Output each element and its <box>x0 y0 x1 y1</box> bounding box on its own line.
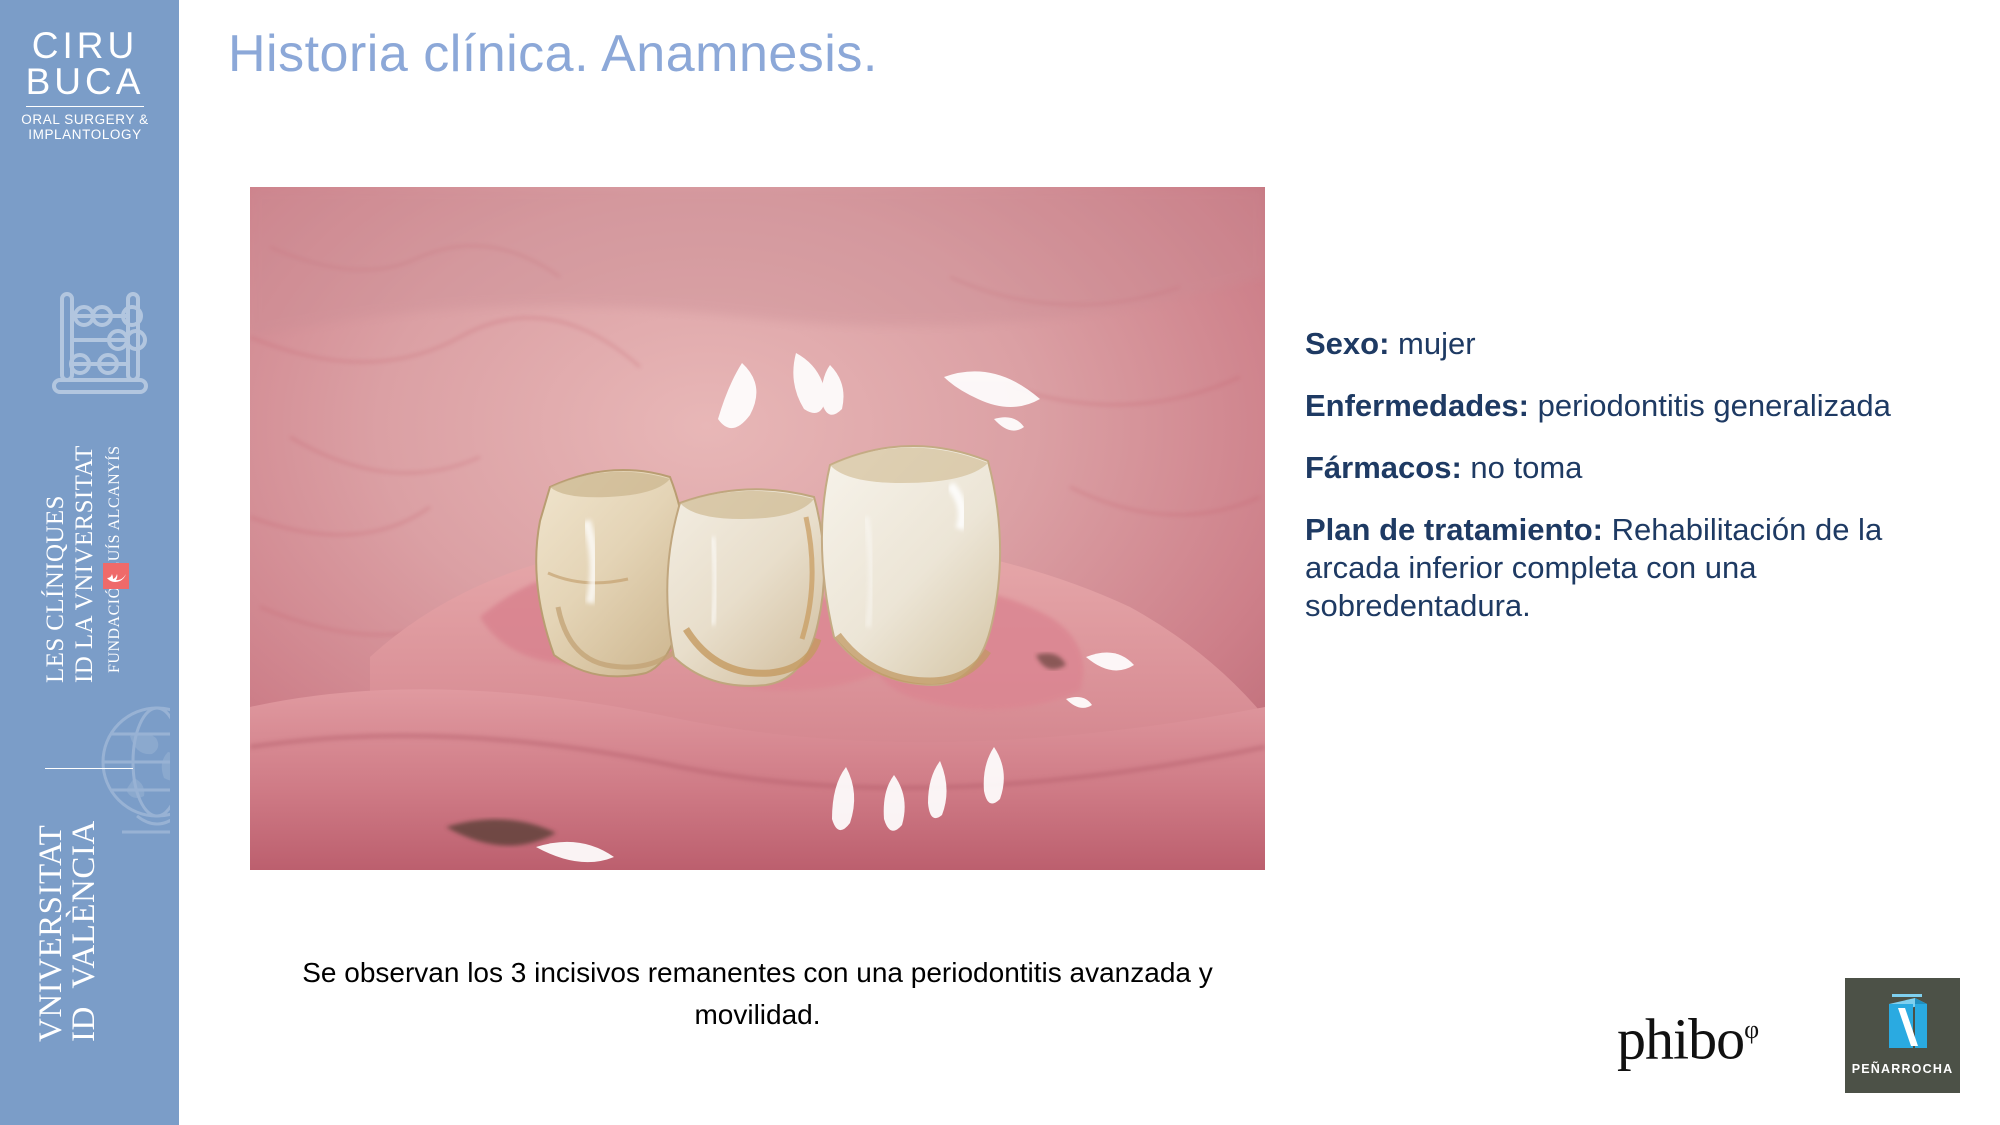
phibo-wordmark: phibo <box>1617 1006 1744 1071</box>
brand-sidebar: CIRU BUCA ORAL SURGERY & IMPLANTOLOGY <box>0 0 170 1125</box>
penarrocha-logo: PEÑARROCHA <box>1845 978 1960 1093</box>
info-value-enfermedades: periodontitis generalizada <box>1529 388 1891 423</box>
info-row-enfermedades: Enfermedades: periodontitis generalizada <box>1305 387 1905 425</box>
cirubuca-logo: CIRU BUCA ORAL SURGERY & IMPLANTOLOGY <box>0 28 170 142</box>
sidebar-accent-bar <box>170 0 179 1125</box>
phibo-logo: phiboφ <box>1617 1001 1759 1068</box>
cirubuca-line3: ORAL SURGERY & <box>0 112 170 127</box>
clinics-line1: LES CLÍNIQUES <box>42 495 70 683</box>
info-label-plan: Plan de tratamiento: <box>1305 512 1603 547</box>
info-row-plan: Plan de tratamiento: Rehabilitación de l… <box>1305 511 1905 625</box>
penarrocha-n-icon <box>1845 990 1960 1056</box>
cirubuca-line1: CIRU <box>0 28 170 64</box>
cirubuca-divider <box>26 106 144 107</box>
info-row-sexo: Sexo: mujer <box>1305 325 1905 363</box>
phibo-phi-icon: φ <box>1744 1015 1759 1044</box>
universitat-line1: VNIVERSITAT <box>33 825 70 1042</box>
info-label-farmacos: Fármacos: <box>1305 450 1462 485</box>
foundation-line: FUNDACIÓ LLUÍS ALCANYÍS <box>106 445 124 673</box>
clinical-photo <box>250 187 1265 870</box>
penarrocha-wordmark: PEÑARROCHA <box>1845 1062 1960 1076</box>
page-title: Historia clínica. Anamnesis. <box>228 24 878 84</box>
info-value-farmacos: no toma <box>1462 450 1583 485</box>
abacus-icon <box>44 288 156 400</box>
fundacio-lluis-alcanyis-mark-icon <box>103 563 129 589</box>
info-label-enfermedades: Enfermedades: <box>1305 388 1529 423</box>
photo-caption: Se observan los 3 incisivos remanentes c… <box>250 952 1265 1036</box>
clinics-line2: ID LA VNIVERSITAT <box>71 445 99 683</box>
cirubuca-line2: BUCA <box>0 64 170 100</box>
universitat-line2: ID VALÈNCIA <box>66 820 103 1042</box>
info-label-sexo: Sexo: <box>1305 326 1389 361</box>
info-row-farmacos: Fármacos: no toma <box>1305 449 1905 487</box>
lockup-divider-2 <box>75 768 133 769</box>
cirubuca-line4: IMPLANTOLOGY <box>0 127 170 142</box>
patient-info-list: Sexo: mujer Enfermedades: periodontitis … <box>1305 325 1905 625</box>
info-value-sexo: mujer <box>1389 326 1475 361</box>
